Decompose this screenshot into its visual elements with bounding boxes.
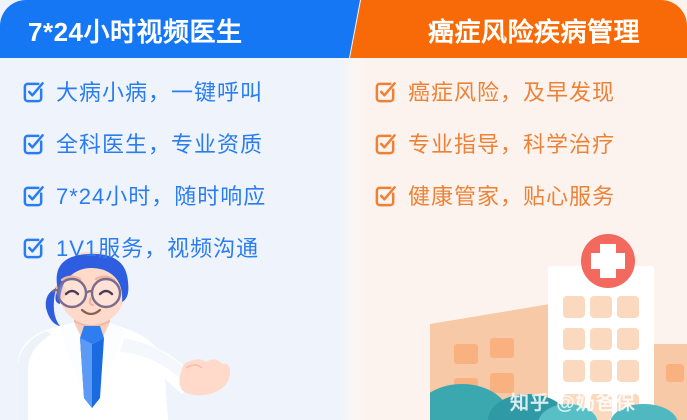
checkbox-checked-icon: [374, 80, 397, 103]
promo-poster: 知乎 @奶爸保 7*24小时视频医生 癌症风险疾病管理 大病小病，一键呼叫: [0, 0, 687, 420]
list-item: 癌症风险，及早发现: [374, 74, 615, 108]
list-item: 大病小病，一键呼叫: [22, 74, 266, 108]
list-item-label: 专业指导，科学治疗: [408, 127, 615, 159]
list-item-label: 1V1服务，视频沟通: [56, 231, 259, 263]
right-banner-title: 癌症风险疾病管理: [428, 12, 640, 49]
list-item-label: 7*24小时，随时响应: [56, 179, 266, 211]
checkbox-checked-icon: [374, 184, 397, 207]
list-item: 全科医生，专业资质: [22, 126, 266, 160]
left-banner: 7*24小时视频医生: [0, 0, 360, 58]
checkbox-checked-icon: [22, 80, 45, 103]
list-item-label: 大病小病，一键呼叫: [56, 75, 263, 107]
watermark-text: 知乎 @奶爸保: [510, 388, 636, 415]
list-item-label: 全科医生，专业资质: [56, 127, 263, 159]
list-item: 1V1服务，视频沟通: [22, 230, 266, 264]
checkbox-checked-icon: [22, 132, 45, 155]
right-banner: 癌症风险疾病管理: [350, 0, 687, 58]
list-item-label: 健康管家，贴心服务: [408, 179, 615, 211]
checkbox-checked-icon: [22, 184, 45, 207]
checkbox-checked-icon: [374, 132, 397, 155]
list-item-label: 癌症风险，及早发现: [408, 75, 615, 107]
panel-divider-gradient: [340, 0, 366, 420]
list-item: 7*24小时，随时响应: [22, 178, 266, 212]
right-feature-list: 癌症风险，及早发现 专业指导，科学治疗 健康管家，贴心服务: [374, 74, 615, 230]
checkbox-checked-icon: [22, 236, 45, 259]
list-item: 健康管家，贴心服务: [374, 178, 615, 212]
left-banner-title: 7*24小时视频医生: [28, 12, 243, 49]
left-feature-list: 大病小病，一键呼叫 全科医生，专业资质 7*24小时，随时响应: [22, 74, 266, 282]
list-item: 专业指导，科学治疗: [374, 126, 615, 160]
